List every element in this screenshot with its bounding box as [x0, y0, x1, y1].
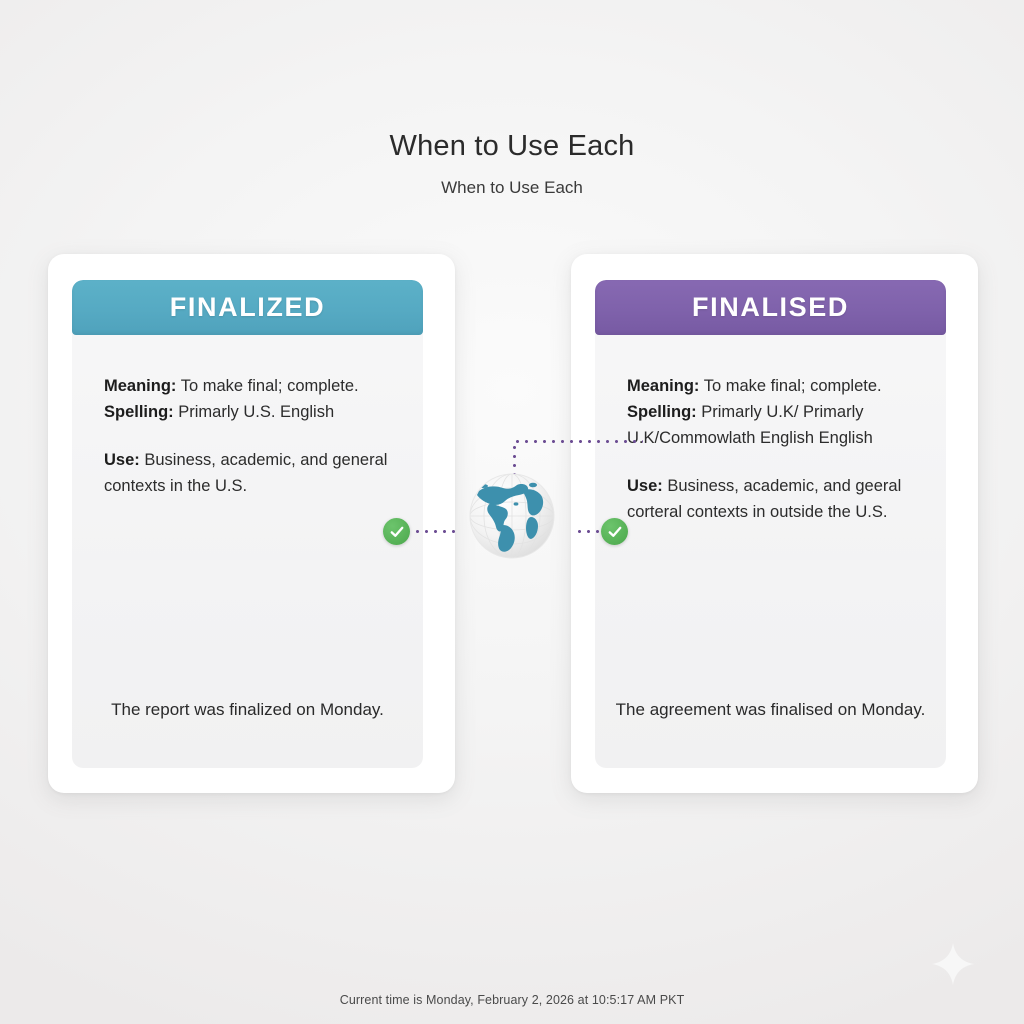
card-block-use-left: Use: Business, academic, and general con…: [104, 447, 393, 499]
card-block-text: Business, academic, and general contexts…: [104, 451, 387, 495]
card-block-label: Spelling:: [627, 403, 697, 421]
page-header: When to Use Each When to Use Each: [0, 130, 1024, 198]
card-block-text: Business, academic, and geeral corteral …: [627, 477, 901, 521]
page-title: When to Use Each: [0, 130, 1024, 163]
card-block-label: Use:: [104, 451, 140, 469]
card-block-spelling-left: Spelling: Primarly U.S. English: [104, 399, 393, 425]
card-block-meaning-right: Meaning: To make final; complete.: [627, 373, 916, 399]
card-block-label: Use:: [627, 477, 663, 495]
sparkle-icon: [930, 941, 976, 987]
card-block-spelling-right: Spelling: Primarly U.K/ Primarly U.K/Com…: [627, 399, 916, 451]
card-body-right: Meaning: To make final; complete. Spelli…: [595, 335, 946, 525]
card-finalized[interactable]: FINALIZED Meaning: To make final; comple…: [48, 254, 455, 793]
card-block-label: Meaning:: [104, 377, 176, 395]
card-body-left: Meaning: To make final; complete. Spelli…: [72, 335, 423, 499]
card-example-right: The agreement was finalised on Monday.: [613, 696, 928, 724]
card-block-label: Spelling:: [104, 403, 174, 421]
card-block-meaning-left: Meaning: To make final; complete.: [104, 373, 393, 399]
footer-timestamp: Current time is Monday, February 2, 2026…: [0, 993, 1024, 1007]
card-inner-panel-left: FINALIZED Meaning: To make final; comple…: [72, 280, 423, 768]
card-block-text: To make final; complete.: [176, 377, 358, 395]
card-block-text: To make final; complete.: [699, 377, 881, 395]
card-example-left: The report was finalized on Monday.: [90, 696, 405, 724]
card-header-finalized: FINALIZED: [72, 280, 423, 335]
card-header-finalised: FINALISED: [595, 280, 946, 335]
card-finalised[interactable]: FINALISED Meaning: To make final; comple…: [571, 254, 978, 793]
card-block-text: Primarly U.S. English: [174, 403, 334, 421]
card-block-label: Meaning:: [627, 377, 699, 395]
comparison-cards-area: FINALIZED Meaning: To make final; comple…: [0, 254, 1024, 799]
card-inner-panel-right: FINALISED Meaning: To make final; comple…: [595, 280, 946, 768]
page-subtitle: When to Use Each: [0, 178, 1024, 198]
card-header-label-right: FINALISED: [692, 292, 849, 323]
card-header-label-left: FINALIZED: [170, 292, 325, 323]
card-block-use-right: Use: Business, academic, and geeral cort…: [627, 473, 916, 525]
